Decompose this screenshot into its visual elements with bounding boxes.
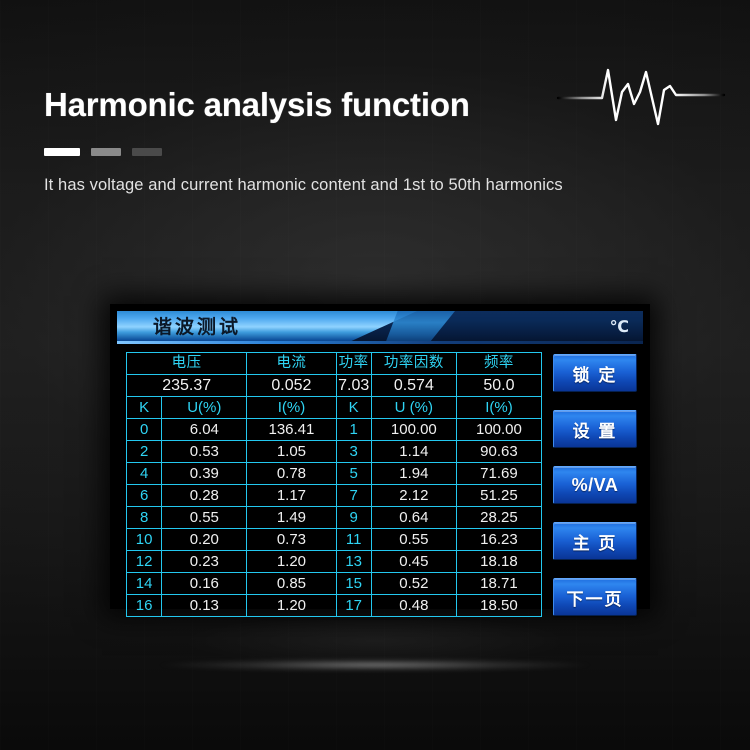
summary-value-cell: 0.574	[371, 375, 456, 397]
harmonic-value-cell: 18.71	[456, 573, 541, 595]
summary-header-row: 电压电流功率功率因数频率	[127, 353, 542, 375]
harmonic-order-cell: 14	[127, 573, 162, 595]
harmonic-value-cell: 136.41	[247, 419, 336, 441]
harmonic-value-cell: 51.25	[456, 485, 541, 507]
harmonic-header-row: KU(%)I(%)KU (%)I(%)	[127, 397, 542, 419]
harmonic-value-cell: 0.28	[162, 485, 247, 507]
dash-tertiary	[132, 148, 162, 156]
harmonic-order-cell: 3	[336, 441, 371, 463]
harmonic-value-cell: 1.14	[371, 441, 456, 463]
page-header: Harmonic analysis function It has voltag…	[0, 0, 750, 230]
summary-header-cell: 频率	[456, 353, 541, 375]
summary-header-cell: 功率	[336, 353, 371, 375]
harmonic-value-cell: 0.52	[371, 573, 456, 595]
lcd-title: 谐波测试	[153, 311, 241, 344]
harmonic-header-cell: U (%)	[371, 397, 456, 419]
harmonic-order-cell: 2	[127, 441, 162, 463]
harmonic-order-cell: 15	[336, 573, 371, 595]
summary-value-row: 235.370.0527.030.57450.0	[127, 375, 542, 397]
harmonic-value-cell: 0.23	[162, 551, 247, 573]
summary-value-cell: 50.0	[456, 375, 541, 397]
harmonic-order-cell: 16	[127, 595, 162, 617]
harmonic-value-cell: 0.39	[162, 463, 247, 485]
lcd-titlebar: 谐波测试 ℃	[117, 311, 643, 344]
table-row: 60.281.1772.1251.25	[127, 485, 542, 507]
harmonic-order-cell: 12	[127, 551, 162, 573]
harmonic-value-cell: 0.78	[247, 463, 336, 485]
table-row: 80.551.4990.6428.25	[127, 507, 542, 529]
side-button-column: 锁 定设 置%/VA主 页下一页	[553, 352, 637, 617]
harmonic-value-cell: 0.53	[162, 441, 247, 463]
summary-header-cell: 电压	[127, 353, 247, 375]
harmonic-header-cell: K	[336, 397, 371, 419]
page-title: Harmonic analysis function	[44, 86, 470, 124]
harmonic-value-cell: 0.48	[371, 595, 456, 617]
waveform-pulse-icon	[556, 62, 726, 128]
page-subtitle: It has voltage and current harmonic cont…	[44, 176, 563, 195]
harmonic-value-cell: 1.20	[247, 595, 336, 617]
summary-value-cell: 0.052	[247, 375, 336, 397]
dash-primary	[44, 148, 80, 156]
next-page-button[interactable]: 下一页	[553, 578, 637, 616]
summary-header-cell: 电流	[247, 353, 336, 375]
harmonic-value-cell: 28.25	[456, 507, 541, 529]
harmonic-order-cell: 8	[127, 507, 162, 529]
harmonic-value-cell: 100.00	[371, 419, 456, 441]
harmonic-order-cell: 5	[336, 463, 371, 485]
table-row: 100.200.73110.5516.23	[127, 529, 542, 551]
harmonic-header-cell: I(%)	[456, 397, 541, 419]
harmonic-value-cell: 0.45	[371, 551, 456, 573]
table-row: 120.231.20130.4518.18	[127, 551, 542, 573]
harmonic-order-cell: 11	[336, 529, 371, 551]
harmonic-order-cell: 1	[336, 419, 371, 441]
harmonic-value-cell: 71.69	[456, 463, 541, 485]
harmonic-order-cell: 9	[336, 507, 371, 529]
harmonic-value-cell: 18.50	[456, 595, 541, 617]
temperature-unit-indicator[interactable]: ℃	[610, 311, 629, 344]
harmonic-value-cell: 0.16	[162, 573, 247, 595]
harmonic-value-cell: 90.63	[456, 441, 541, 463]
harmonic-order-cell: 0	[127, 419, 162, 441]
harmonic-value-cell: 0.13	[162, 595, 247, 617]
harmonic-order-cell: 6	[127, 485, 162, 507]
harmonic-value-cell: 0.73	[247, 529, 336, 551]
harmonic-value-cell: 16.23	[456, 529, 541, 551]
harmonic-value-cell: 2.12	[371, 485, 456, 507]
table-row: 06.04136.411100.00100.00	[127, 419, 542, 441]
summary-header-cell: 功率因数	[371, 353, 456, 375]
percent-va-button[interactable]: %/VA	[553, 466, 637, 504]
harmonic-value-cell: 6.04	[162, 419, 247, 441]
table-row: 40.390.7851.9471.69	[127, 463, 542, 485]
table-row: 160.131.20170.4818.50	[127, 595, 542, 617]
harmonic-order-cell: 17	[336, 595, 371, 617]
lock-button[interactable]: 锁 定	[553, 354, 637, 392]
harmonic-header-cell: I(%)	[247, 397, 336, 419]
device-screen-bezel: 谐波测试 ℃ 电压电流功率功率因数频率235.370.0527.030.5745…	[110, 304, 650, 609]
harmonic-value-cell: 1.05	[247, 441, 336, 463]
harmonic-value-cell: 1.94	[371, 463, 456, 485]
harmonic-order-cell: 10	[127, 529, 162, 551]
table-row: 140.160.85150.5218.71	[127, 573, 542, 595]
harmonic-value-cell: 0.85	[247, 573, 336, 595]
harmonic-order-cell: 13	[336, 551, 371, 573]
home-button[interactable]: 主 页	[553, 522, 637, 560]
harmonic-header-cell: U(%)	[162, 397, 247, 419]
harmonic-header-cell: K	[127, 397, 162, 419]
dash-secondary	[91, 148, 121, 156]
harmonic-value-cell: 100.00	[456, 419, 541, 441]
harmonic-value-cell: 0.55	[371, 529, 456, 551]
harmonic-value-cell: 1.17	[247, 485, 336, 507]
harmonic-value-cell: 1.20	[247, 551, 336, 573]
harmonic-value-cell: 0.64	[371, 507, 456, 529]
table-row: 20.531.0531.1490.63	[127, 441, 542, 463]
summary-value-cell: 7.03	[336, 375, 371, 397]
harmonic-order-cell: 4	[127, 463, 162, 485]
settings-button[interactable]: 设 置	[553, 410, 637, 448]
harmonic-value-cell: 1.49	[247, 507, 336, 529]
summary-value-cell: 235.37	[127, 375, 247, 397]
lcd-body: 电压电流功率功率因数频率235.370.0527.030.57450.0KU(%…	[117, 344, 643, 624]
floor-reflection-streak	[95, 657, 655, 673]
harmonic-value-cell: 18.18	[456, 551, 541, 573]
harmonic-order-cell: 7	[336, 485, 371, 507]
harmonic-value-cell: 0.20	[162, 529, 247, 551]
measurement-table-wrap: 电压电流功率功率因数频率235.370.0527.030.57450.0KU(%…	[126, 352, 542, 617]
lcd-screen: 谐波测试 ℃ 电压电流功率功率因数频率235.370.0527.030.5745…	[117, 311, 643, 601]
harmonic-value-cell: 0.55	[162, 507, 247, 529]
decorative-dashes	[44, 148, 162, 156]
measurement-table: 电压电流功率功率因数频率235.370.0527.030.57450.0KU(%…	[126, 352, 542, 617]
